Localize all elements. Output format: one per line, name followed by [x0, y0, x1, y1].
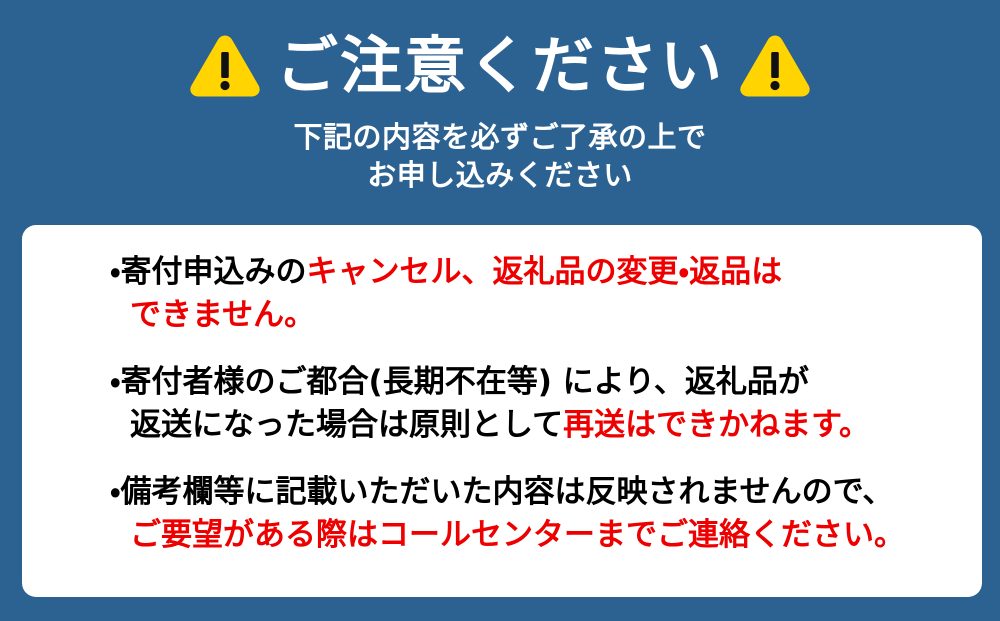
notice-text-black: 備考欄等に記載いただいた内容は反映されませんので、 — [121, 474, 894, 510]
notice-text-red: できません。 — [130, 297, 315, 333]
notice-text-black: 寄付申込みの — [121, 254, 307, 290]
notice-card: ・寄付申込みのキャンセル、返礼品の変更・返品は できません。 ・寄付者様のご都合… — [22, 225, 982, 597]
notice-text-red: 再送はできかねます。 — [563, 407, 870, 443]
warning-triangle-icon — [188, 32, 262, 100]
notice-text-red: キャンセル、返礼品の変更・返品は — [307, 254, 783, 290]
notice-text-black: 寄付者様のご都合(長期不在等) により、返礼品が — [121, 364, 809, 400]
notice-text-red: ご要望がある際はコールセンターまでご連絡ください。 — [130, 517, 905, 553]
notice-text-black: 返送になった場合は原則として — [130, 407, 563, 443]
bullet-marker: ・ — [110, 254, 121, 290]
page-title: ご注意ください — [276, 32, 724, 100]
notice-item: ・寄付申込みのキャンセル、返礼品の変更・返品は できません。 — [110, 251, 962, 337]
banner-subtitle-line-2: お申し込みください — [293, 156, 706, 194]
banner-subtitle-line-1: 下記の内容を必ずご了承の上で — [293, 118, 706, 156]
bullet-marker: ・ — [110, 474, 121, 510]
banner-title-row: ご注意ください — [188, 24, 812, 108]
bullet-marker: ・ — [110, 364, 121, 400]
notice-item: ・寄付者様のご都合(長期不在等) により、返礼品が 返送になった場合は原則として… — [110, 361, 962, 447]
notice-item-line-2: 返送になった場合は原則として再送はできかねます。 — [110, 404, 962, 447]
warning-triangle-icon — [738, 32, 812, 100]
banner-subtitle: 下記の内容を必ずご了承の上で お申し込みください — [293, 118, 706, 194]
banner-header: ご注意ください 下記の内容を必ずご了承の上で お申し込みください — [0, 0, 1000, 225]
notice-item-line-2: できません。 — [110, 294, 962, 337]
notice-banner: ご注意ください 下記の内容を必ずご了承の上で お申し込みください ・寄付申込みの… — [0, 0, 1000, 621]
notice-item-line-2: ご要望がある際はコールセンターまでご連絡ください。 — [110, 514, 962, 557]
notice-item: ・備考欄等に記載いただいた内容は反映されませんので、 ご要望がある際はコールセン… — [110, 471, 962, 557]
notice-item-line-1: ・寄付者様のご都合(長期不在等) により、返礼品が — [110, 361, 962, 404]
notice-item-line-1: ・備考欄等に記載いただいた内容は反映されませんので、 — [110, 471, 962, 514]
notice-item-line-1: ・寄付申込みのキャンセル、返礼品の変更・返品は — [110, 251, 962, 294]
